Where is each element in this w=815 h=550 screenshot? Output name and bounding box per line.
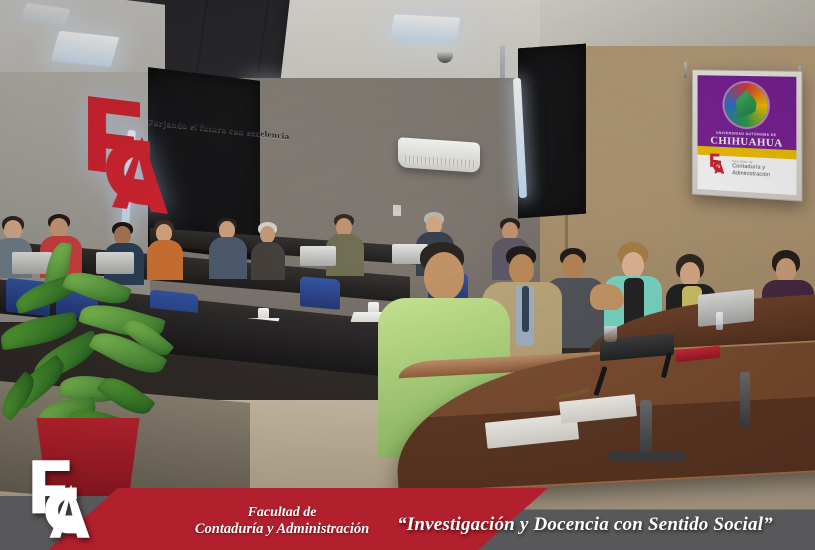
banner-fca-logo (26, 456, 96, 542)
poster-university-name: CHIHUAHUA (698, 134, 797, 150)
uach-seal-icon (724, 83, 767, 128)
screenshot-root: Forjando el futuro con excelencia UNIVER… (0, 0, 815, 550)
blackout-panel (518, 44, 586, 219)
ceiling-light (51, 31, 120, 67)
poster-fca-logo (709, 152, 725, 175)
poster-faculty-name: Contaduría y Administración (732, 163, 770, 179)
ceiling-light (390, 14, 461, 43)
banner-tagline: “Investigación y Docencia con Sentido So… (360, 514, 810, 536)
desk-base (608, 452, 686, 462)
laptop (698, 289, 754, 327)
laptop (300, 246, 336, 266)
conference-room-photo: Forjando el futuro con excelencia UNIVER… (0, 0, 815, 550)
framed-uach-poster: UNIVERSIDAD AUTÓNOMA DE CHIHUAHUA Facult… (692, 69, 803, 201)
chair (300, 276, 340, 309)
air-conditioner-unit (398, 137, 480, 173)
wall-fca-logo (82, 89, 174, 220)
water-bottle (716, 312, 723, 330)
desk-leg (740, 372, 750, 428)
wall-switch (393, 205, 401, 217)
poster-hanger-rod (684, 62, 687, 78)
poster-artwork: UNIVERSIDAD AUTÓNOMA DE CHIHUAHUA Facult… (698, 75, 797, 195)
glass (604, 326, 617, 342)
poster-faculty-line-2: Administración (732, 170, 770, 179)
brand-banner: Facultad de Contaduría y Administración … (0, 478, 815, 550)
